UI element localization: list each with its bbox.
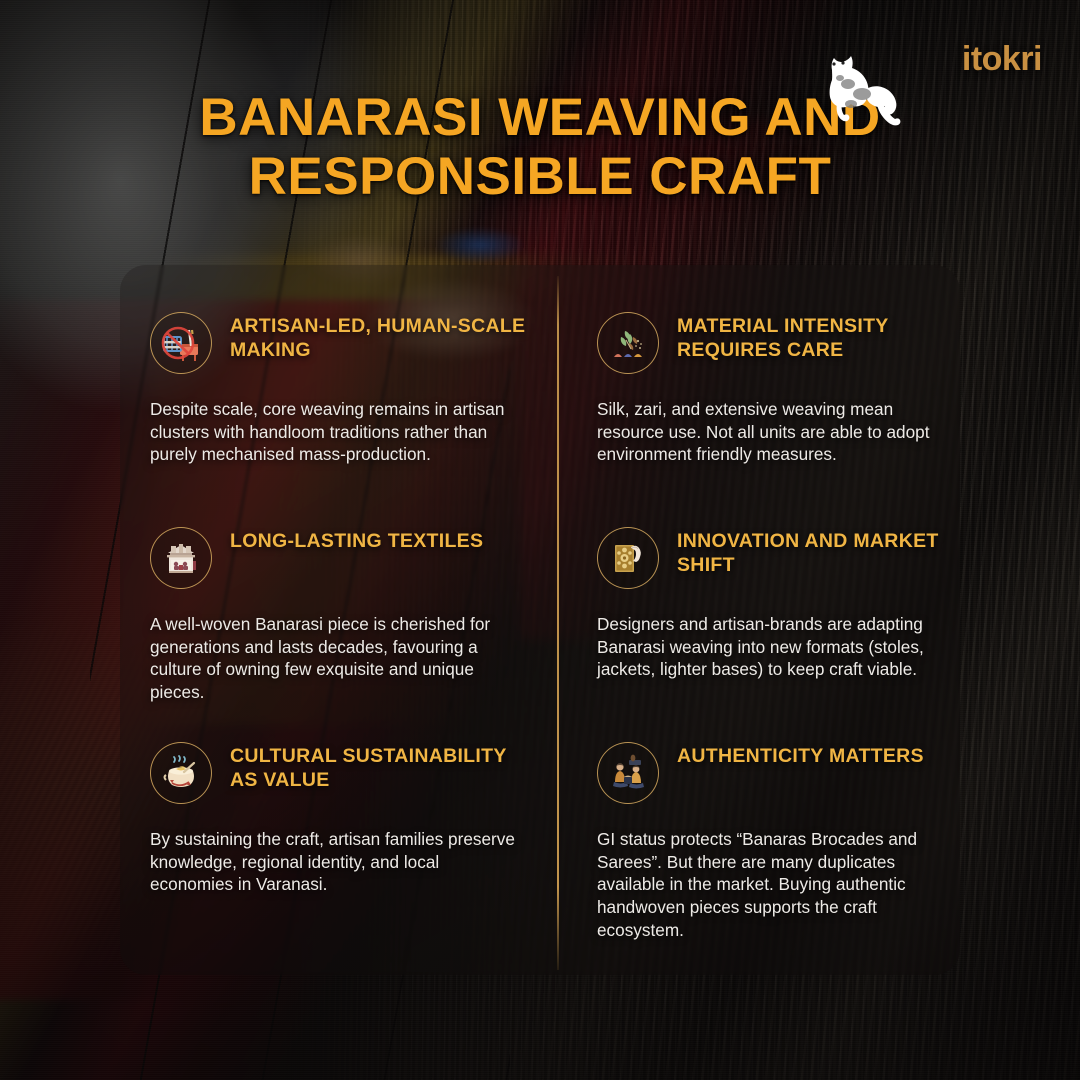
card-title: MATERIAL INTENSITY REQUIRES CARE <box>677 314 942 363</box>
page-title: BANARASI WEAVING AND RESPONSIBLE CRAFT <box>0 88 1080 207</box>
feature-grid: ARTISAN-LED, HUMAN-SCALE MAKING Despite … <box>120 265 960 975</box>
brand-logo[interactable]: itokri <box>962 40 1042 79</box>
heritage-shop-building-icon <box>150 527 212 589</box>
card-title: INNOVATION AND MARKET SHIFT <box>677 529 942 578</box>
leaves-natural-dye-icon <box>597 312 659 374</box>
card-header: AUTHENTICITY MATTERS <box>597 740 942 804</box>
card-title: LONG-LASTING TEXTILES <box>230 529 483 553</box>
card-body: Despite scale, core weaving remains in a… <box>150 398 527 466</box>
brand-name: itokri <box>962 40 1042 79</box>
hand-holding-brocade-icon <box>597 527 659 589</box>
card-header: CULTURAL SUSTAINABILITY AS VALUE <box>150 740 527 804</box>
feature-card-artisan-led: ARTISAN-LED, HUMAN-SCALE MAKING Despite … <box>120 265 557 480</box>
title-line-2: RESPONSIBLE CRAFT <box>120 147 960 206</box>
card-header: ARTISAN-LED, HUMAN-SCALE MAKING <box>150 310 527 374</box>
card-body: Designers and artisan-brands are adaptin… <box>597 613 942 681</box>
card-body: GI status protects “Banaras Brocades and… <box>597 828 942 942</box>
feature-card-long-lasting: LONG-LASTING TEXTILES A well-woven Banar… <box>120 480 557 695</box>
feature-card-authenticity: AUTHENTICITY MATTERS GI status protects … <box>557 695 960 975</box>
cat-illustration-icon <box>818 48 914 132</box>
no-machine-loom-icon <box>150 312 212 374</box>
card-body: A well-woven Banarasi piece is cherished… <box>150 613 527 704</box>
two-seated-artisans-icon <box>597 742 659 804</box>
feature-card-innovation: INNOVATION AND MARKET SHIFT Designers an… <box>557 480 960 695</box>
card-body: Silk, zari, and extensive weaving mean r… <box>597 398 942 466</box>
card-title: CULTURAL SUSTAINABILITY AS VALUE <box>230 744 527 793</box>
feature-card-material-intensity: MATERIAL INTENSITY REQUIRES CARE Silk, z… <box>557 265 960 480</box>
feature-card-cultural-sustainability: CULTURAL SUSTAINABILITY AS VALUE By sust… <box>120 695 557 975</box>
card-header: LONG-LASTING TEXTILES <box>150 525 527 589</box>
infographic-poster: itokri BANARASI WEAVING AND RESPONSIBLE … <box>0 0 1080 1080</box>
card-body: By sustaining the craft, artisan familie… <box>150 828 527 896</box>
card-header: MATERIAL INTENSITY REQUIRES CARE <box>597 310 942 374</box>
steaming-dye-pot-icon <box>150 742 212 804</box>
card-title: AUTHENTICITY MATTERS <box>677 744 924 768</box>
card-header: INNOVATION AND MARKET SHIFT <box>597 525 942 589</box>
card-title: ARTISAN-LED, HUMAN-SCALE MAKING <box>230 314 527 363</box>
